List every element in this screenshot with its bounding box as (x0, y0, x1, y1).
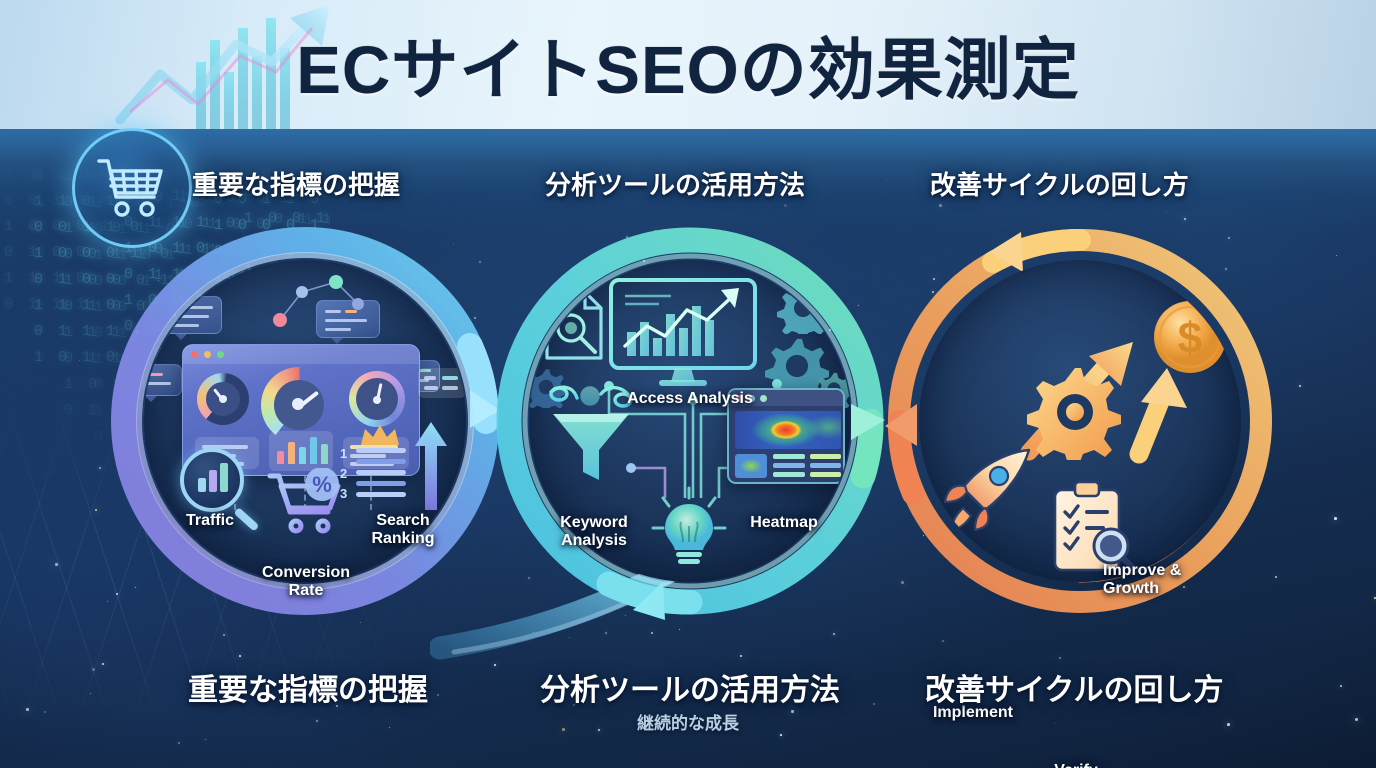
circle-metrics: % 1 2 3 (98, 214, 512, 628)
bottom-heading-cycle: 改善サイクルの回し方 (925, 665, 1224, 709)
magnifier-bar-chart-icon (180, 448, 244, 512)
gear-icon (1027, 364, 1123, 460)
document-magnifier-icon (539, 288, 611, 364)
bar-chart-panel-icon (269, 431, 333, 471)
label-keyword-analysis: Keyword Analysis (534, 514, 654, 550)
node-graph-icon (254, 274, 374, 344)
label-improve-growth: Improve & Growth (1103, 562, 1243, 598)
label-traffic: Traffic (150, 512, 270, 530)
label-verify: Verify (1016, 762, 1136, 768)
gear-icon (777, 282, 829, 334)
label-conversion-rate: Conversion Rate (236, 564, 376, 600)
chat-bubble-icon (144, 364, 182, 396)
bottom-heading-metrics: 重要な指標の把握 (188, 665, 428, 709)
mini-data-card-icon (418, 368, 466, 398)
title-banner: ECサイトSEOの効果測定 (0, 0, 1376, 129)
lightbulb-icon (647, 484, 731, 570)
circle-cycle: $ Improve & Growth Implement Verify (873, 214, 1287, 628)
bottom-heading-tools: 分析ツールの活用方法 (540, 665, 840, 709)
circle-tools: Access Analysis Keyword Analysis Heatmap (483, 214, 897, 628)
svg-text:%: % (312, 472, 332, 497)
clock-gauge-icon (349, 371, 405, 427)
top-heading-tools: 分析ツールの活用方法 (545, 165, 805, 202)
svg-text:$: $ (1178, 314, 1202, 363)
up-arrow-icon (414, 420, 448, 512)
top-heading-metrics: 重要な指標の把握 (192, 165, 400, 202)
label-search-ranking: Search Ranking (348, 512, 458, 548)
banner-divider (0, 129, 1376, 163)
crown-icon (359, 423, 401, 447)
chat-bubble-icon (160, 296, 222, 334)
label-heatmap: Heatmap (724, 514, 844, 532)
shopping-cart-icon (95, 155, 169, 221)
top-heading-cycle: 改善サイクルの回し方 (930, 165, 1189, 202)
infographic-canvas: 0 1 1 0 1 1 0 0 1 0 1 0 1 1 1 1 0 0 1 0 … (0, 0, 1376, 768)
page-title: ECサイトSEOの効果測定 (0, 0, 1376, 129)
rocket-icon (941, 446, 1033, 532)
sub-caption: 継続的な成長 (0, 709, 1376, 734)
dollar-coin-icon: $ (1151, 298, 1229, 376)
gauge-icon (197, 373, 249, 425)
cycle-disc: $ (919, 260, 1241, 582)
label-access-analysis: Access Analysis (590, 390, 790, 408)
